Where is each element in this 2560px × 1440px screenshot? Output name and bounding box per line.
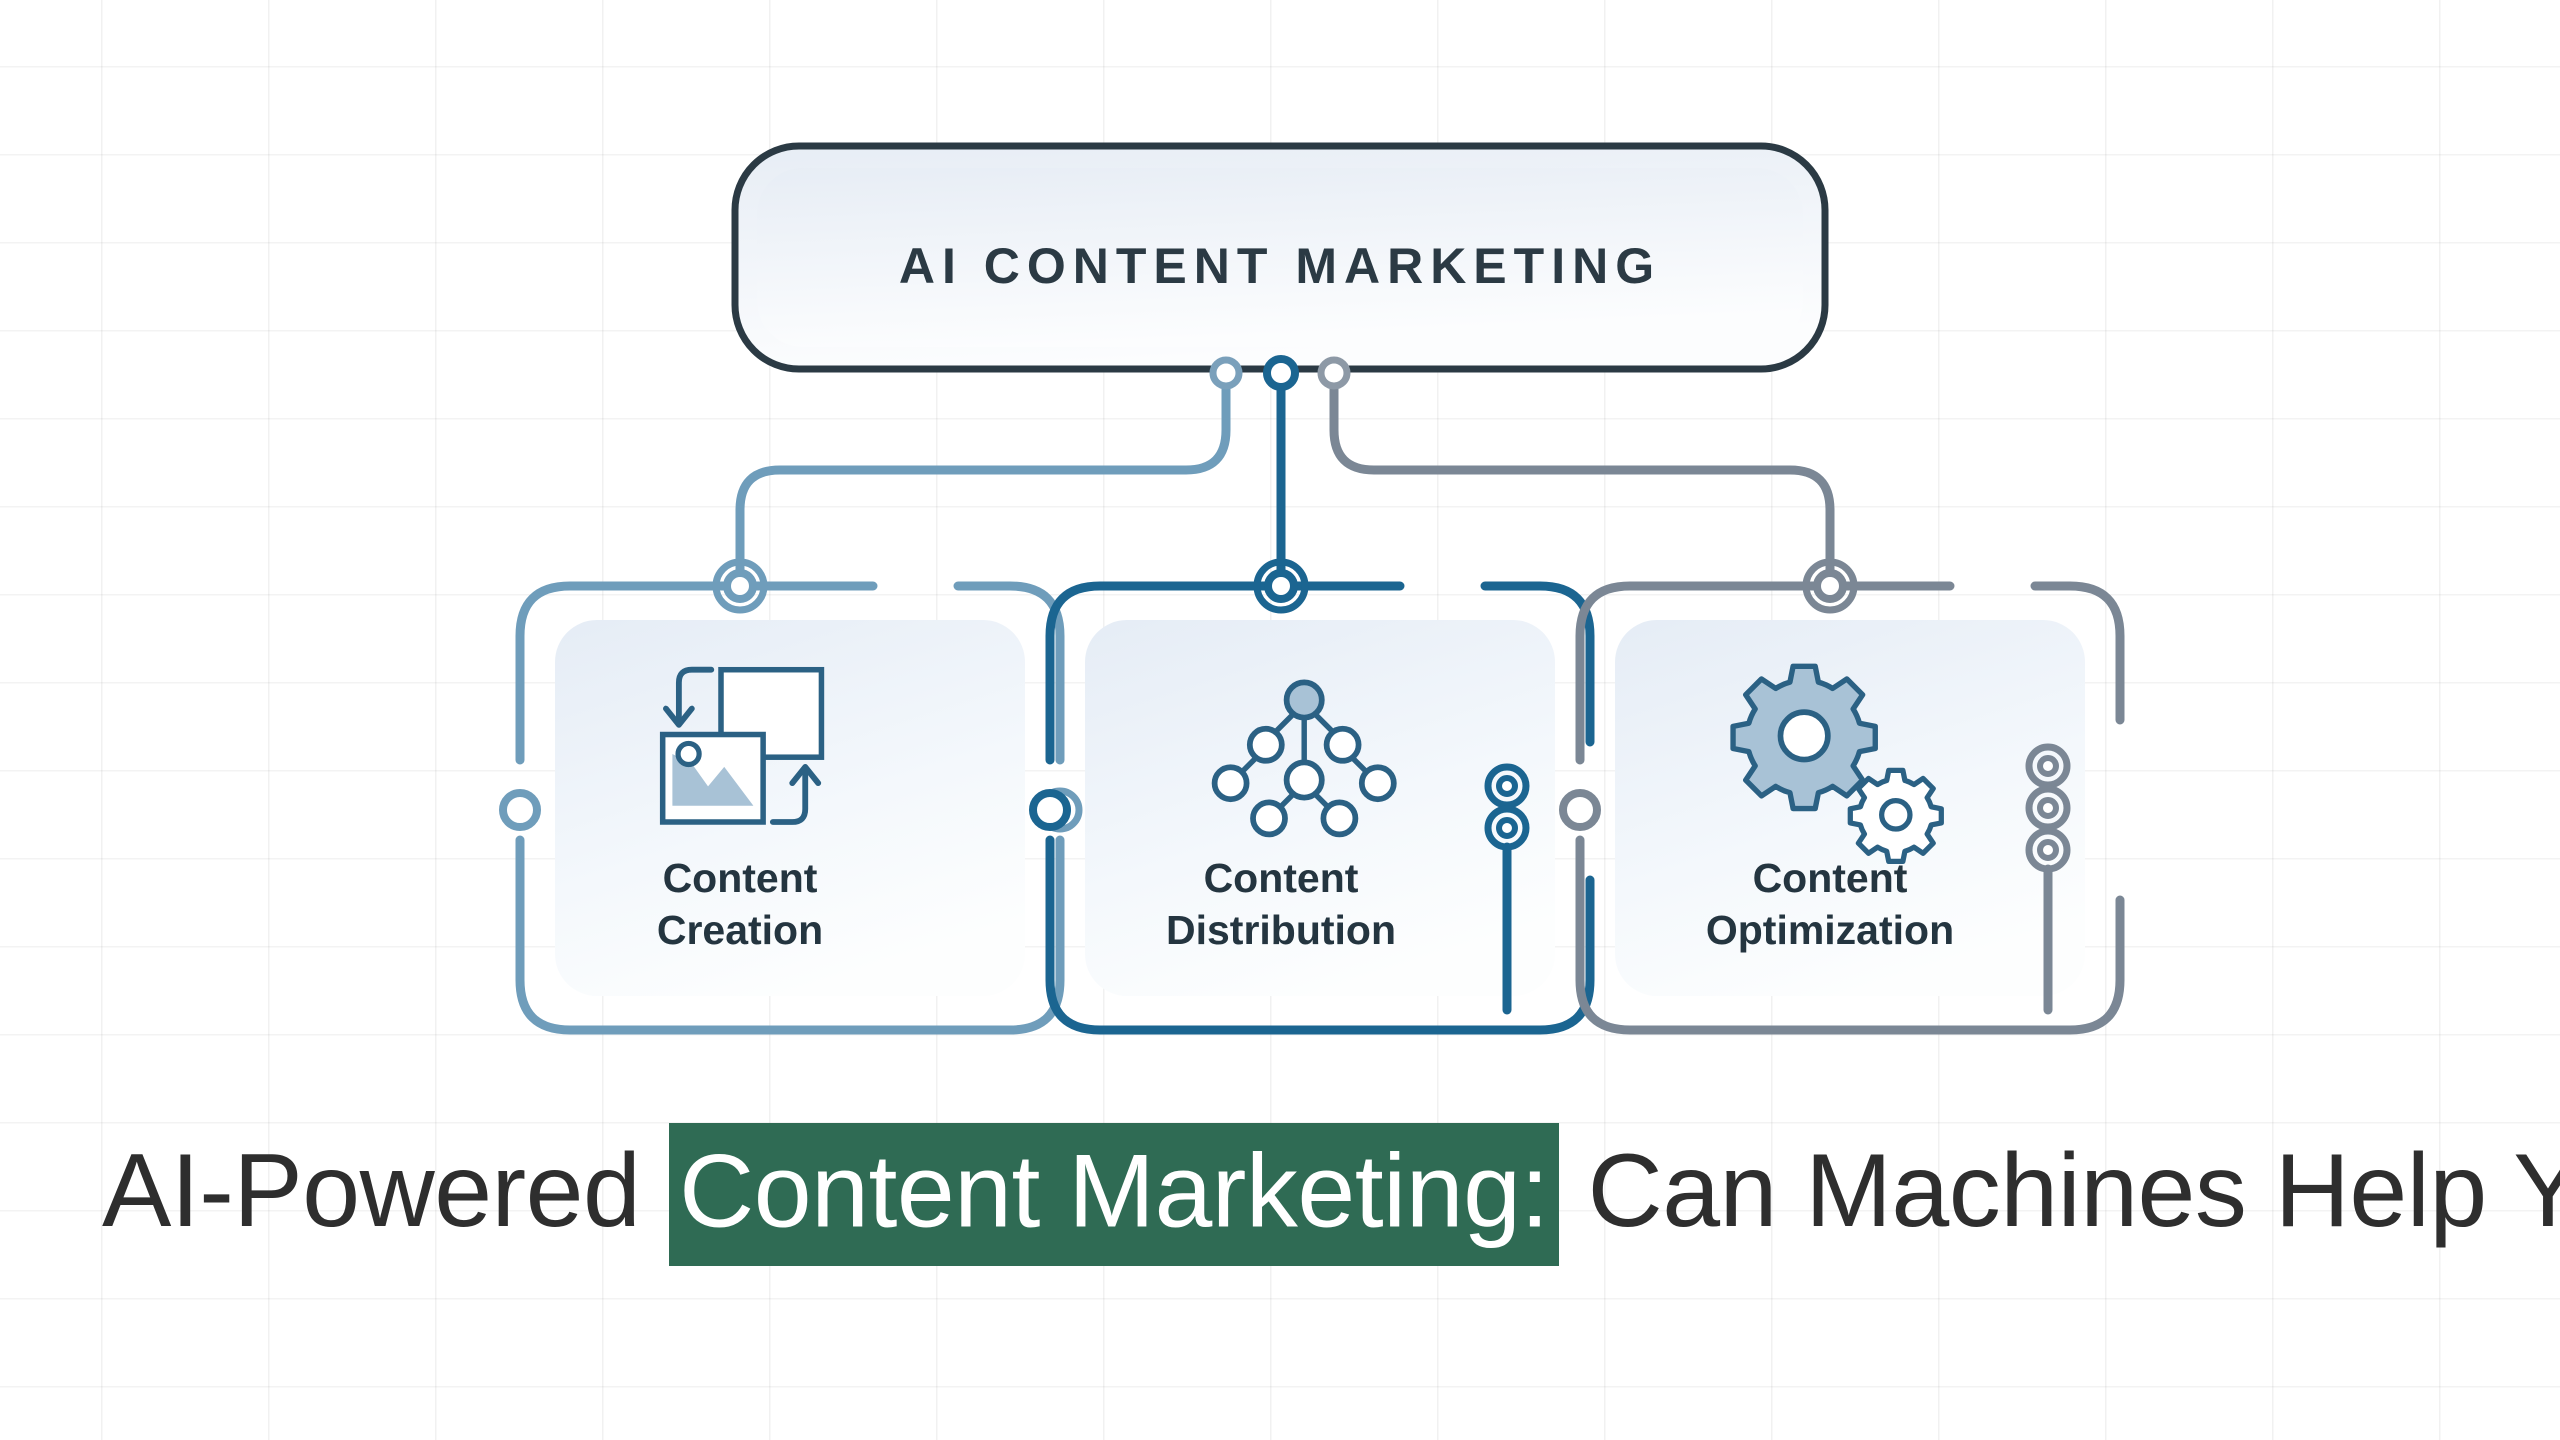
node-distribution-port-left[interactable] — [1033, 793, 1067, 827]
node-optimization-label-line2: Optimization — [1706, 907, 1954, 953]
headline-segment: AI-Powered — [102, 1133, 669, 1249]
node-creation-label-line1: Content — [663, 855, 818, 901]
node-optimization-port-right-2[interactable] — [2040, 800, 2056, 816]
node-creation-label-line2: Creation — [657, 907, 823, 953]
node-distribution-port-right-1[interactable] — [1499, 778, 1515, 794]
node-optimization-port-right-1[interactable] — [2040, 758, 2056, 774]
node-distribution-port-right-2[interactable] — [1499, 820, 1515, 836]
node-optimization-port-left[interactable] — [1563, 793, 1597, 827]
headline-highlight: Content Marketing: — [669, 1123, 1559, 1266]
edge-root-to-optimization — [1334, 373, 1830, 586]
node-distribution-label-line1: Content — [1204, 855, 1359, 901]
root-port-center[interactable] — [1267, 359, 1295, 387]
node-content-distribution[interactable]: Content Distribution — [1033, 562, 1590, 1030]
root-port-right[interactable] — [1321, 360, 1347, 386]
node-optimization-label-line1: Content — [1753, 855, 1908, 901]
page-background: AI CONTENT MARKETING — [0, 0, 2560, 1440]
node-distribution-port-top[interactable] — [1268, 573, 1294, 599]
headline-segment: Can Machines Help You Go Viral? — [1559, 1133, 2560, 1249]
node-creation-port-left[interactable] — [503, 793, 537, 827]
root-port-left[interactable] — [1213, 360, 1239, 386]
ai-content-marketing-diagram: AI CONTENT MARKETING — [0, 0, 2560, 1100]
node-content-optimization[interactable]: Content Optimization — [1563, 562, 2120, 1030]
root-node[interactable]: AI CONTENT MARKETING — [735, 146, 1825, 369]
edge-root-to-creation — [740, 373, 1226, 586]
root-node-label: AI CONTENT MARKETING — [899, 238, 1661, 294]
node-creation-port-top[interactable] — [727, 573, 753, 599]
node-distribution-label-line2: Distribution — [1166, 907, 1396, 953]
node-optimization-port-right-3[interactable] — [2040, 842, 2056, 858]
node-content-creation[interactable]: Content Creation — [503, 562, 1079, 1030]
page-headline: AI-Powered Content Marketing: Can Machin… — [102, 1118, 2482, 1266]
node-optimization-port-top[interactable] — [1817, 573, 1843, 599]
